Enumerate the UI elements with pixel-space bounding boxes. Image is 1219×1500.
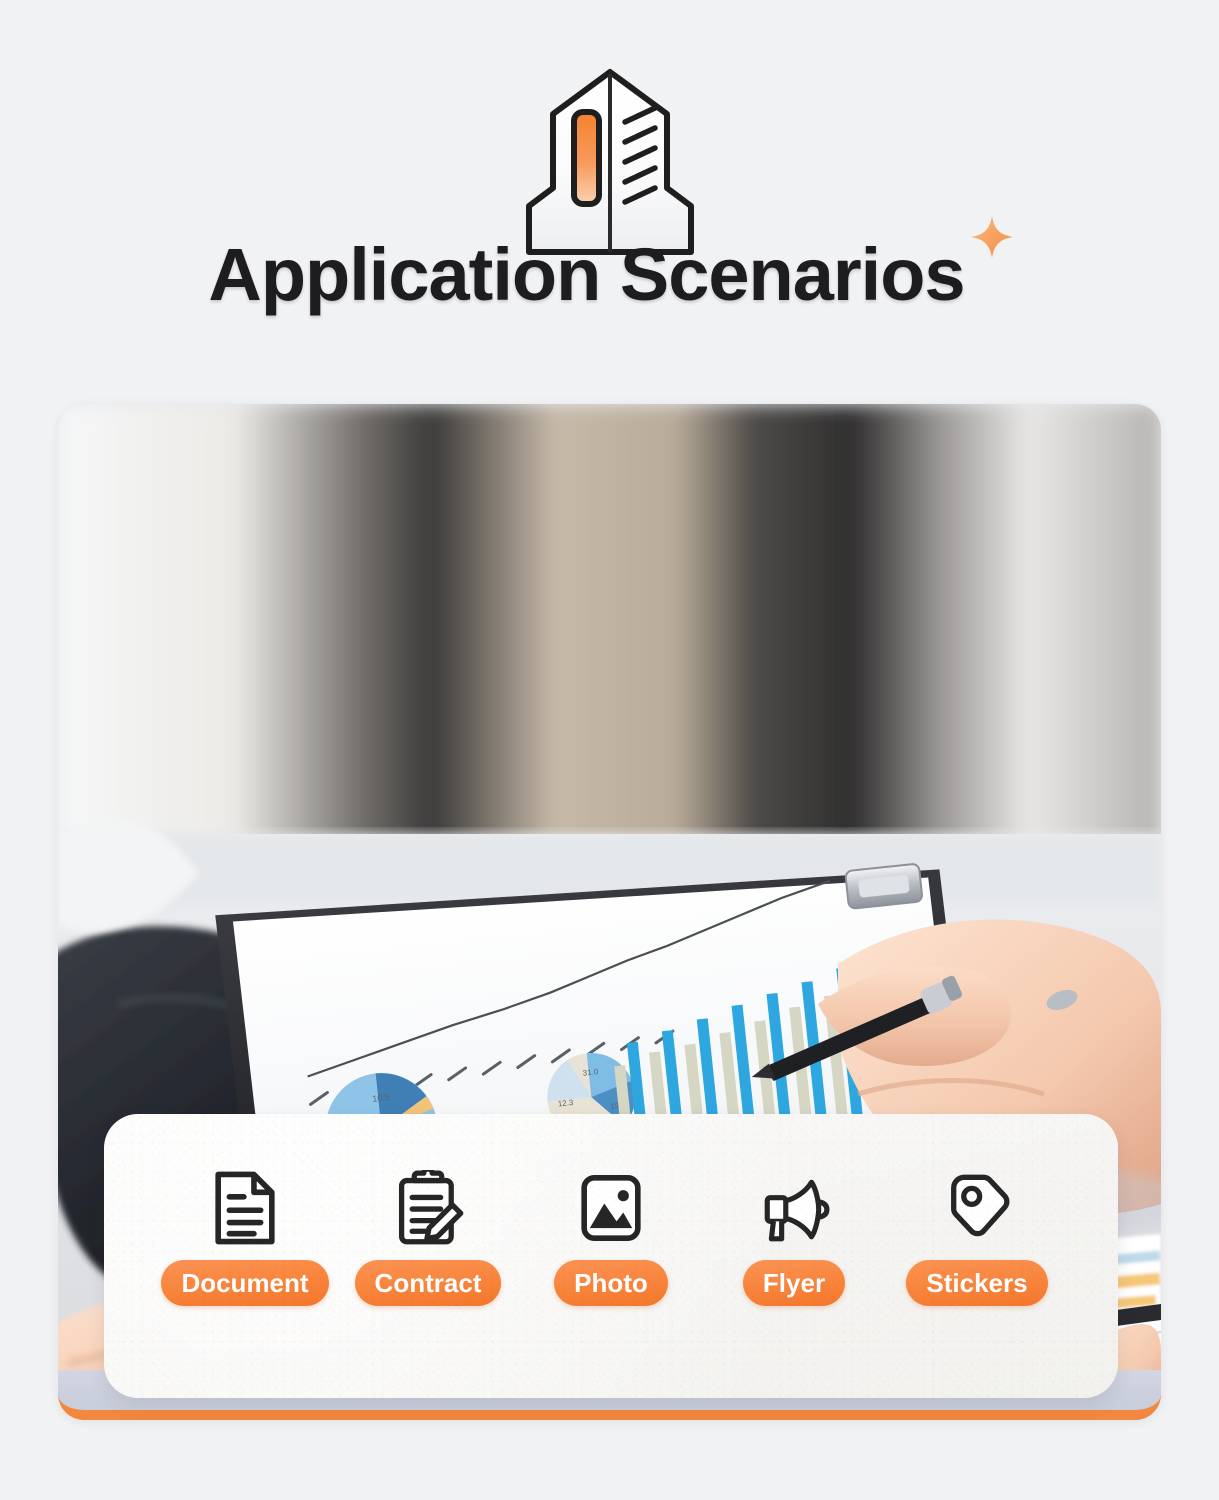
- header-section: Application Scenarios: [0, 0, 1219, 390]
- svg-text:31.0: 31.0: [582, 1067, 599, 1078]
- document-icon: [209, 1170, 281, 1246]
- price-tag-icon: [941, 1170, 1013, 1246]
- page-title: Application Scenarios: [208, 236, 964, 314]
- category-badge-contract[interactable]: Contract: [355, 1260, 502, 1306]
- building-logo-icon: [495, 66, 725, 256]
- categories-row: Document Contract: [104, 1170, 1118, 1306]
- category-badge-stickers[interactable]: Stickers: [906, 1260, 1047, 1306]
- svg-text:10.5: 10.5: [372, 1092, 390, 1104]
- category-item-contract[interactable]: Contract: [337, 1170, 520, 1306]
- category-item-document[interactable]: Document: [154, 1170, 337, 1306]
- category-badge-flyer[interactable]: Flyer: [743, 1260, 845, 1306]
- category-item-stickers[interactable]: Stickers: [886, 1170, 1069, 1306]
- svg-text:12.3: 12.3: [557, 1098, 574, 1109]
- category-badge-photo[interactable]: Photo: [554, 1260, 668, 1306]
- sparkle-icon: [969, 214, 1015, 260]
- category-item-photo[interactable]: Photo: [520, 1170, 703, 1306]
- categories-card: Document Contract: [104, 1114, 1118, 1398]
- page-title-row: Application Scenarios: [0, 236, 1219, 314]
- category-item-flyer[interactable]: Flyer: [703, 1170, 886, 1306]
- megaphone-icon: [758, 1170, 830, 1246]
- image-icon: [575, 1170, 647, 1246]
- category-badge-document[interactable]: Document: [161, 1260, 328, 1306]
- clipboard-pencil-icon: [392, 1170, 464, 1246]
